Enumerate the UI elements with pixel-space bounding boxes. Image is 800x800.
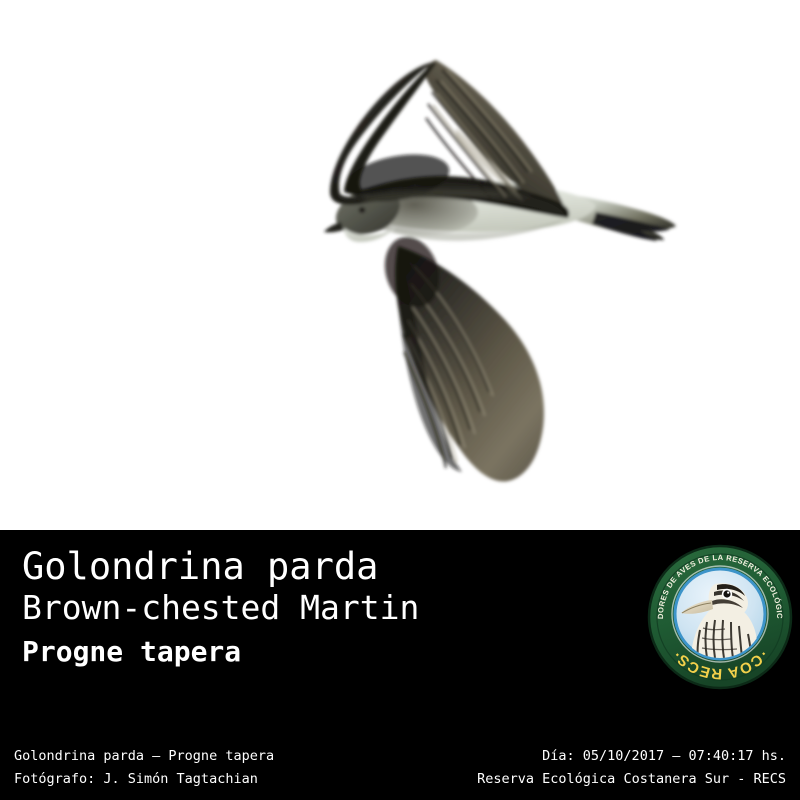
footer-location-line: Reserva Ecológica Costanera Sur - RECS (477, 768, 786, 791)
footer-right: Día: 05/10/2017 — 07:40:17 hs. Reserva E… (477, 745, 786, 791)
photo-area (0, 0, 800, 530)
coa-recs-logo: CLUB DE OBSERVADORES DE AVES DE LA RESER… (647, 544, 793, 690)
scientific-name: Progne tapera (22, 634, 622, 670)
bird-photo-card: Golondrina parda Brown-chested Martin Pr… (0, 0, 800, 800)
footer-photographer-line: Fotógrafo: J. Simón Tagtachian (14, 768, 274, 791)
common-name: Golondrina parda (22, 546, 622, 588)
footer: Golondrina parda — Progne tapera Fotógra… (0, 745, 800, 800)
title-block: Golondrina parda Brown-chested Martin Pr… (22, 546, 622, 670)
footer-species-line: Golondrina parda — Progne tapera (14, 745, 274, 768)
footer-datetime-line: Día: 05/10/2017 — 07:40:17 hs. (477, 745, 786, 768)
footer-left: Golondrina parda — Progne tapera Fotógra… (14, 745, 274, 791)
english-name: Brown-chested Martin (22, 588, 622, 628)
logo-svg: CLUB DE OBSERVADORES DE AVES DE LA RESER… (647, 544, 793, 690)
bird-illustration (0, 0, 800, 530)
